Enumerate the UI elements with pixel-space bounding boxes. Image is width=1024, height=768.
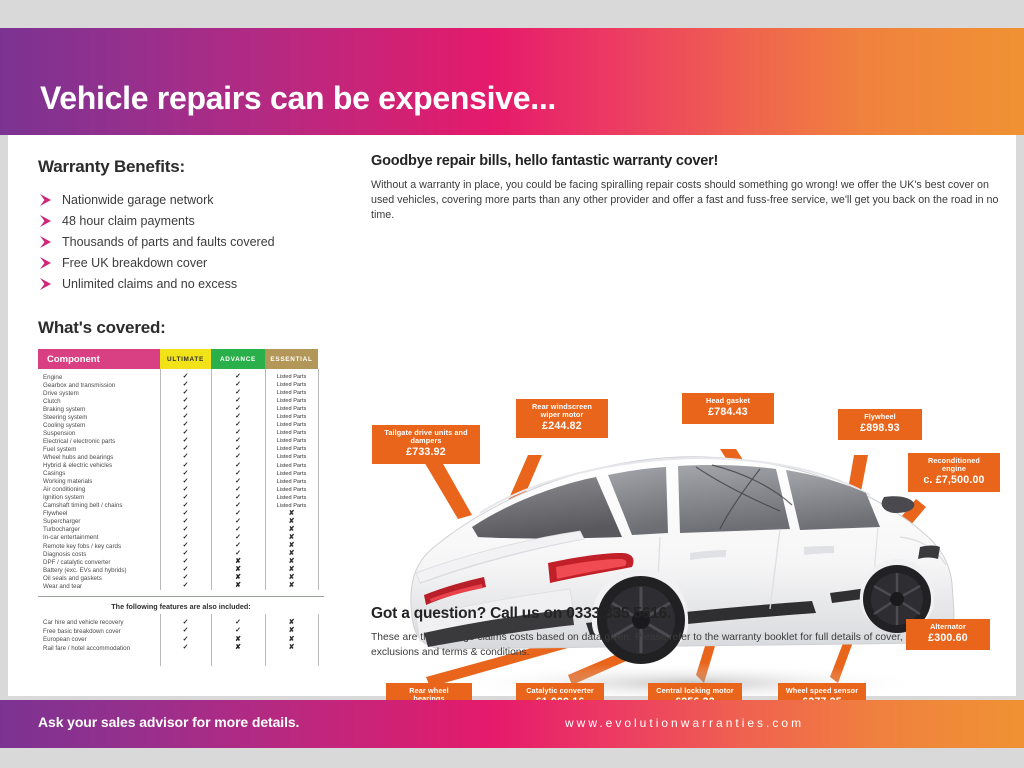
left-column: Warranty Benefits: Nationwide garage net… (38, 157, 334, 653)
list-item: Unlimited claims and no excess (38, 273, 334, 294)
table-row: Engine✓✓Listed Parts (38, 373, 324, 381)
cell-essential: Listed Parts (265, 445, 318, 453)
cell-advance: ✓ (211, 550, 265, 558)
cell-component: Gearbox and transmission (38, 382, 160, 389)
column-header-ultimate: ULTIMATE (160, 349, 211, 369)
callout-tailgate: Tailgate drive units and dampers £733.92 (372, 425, 480, 464)
cell-advance: ✓ (211, 381, 265, 389)
chevron-right-icon (38, 256, 56, 270)
cell-essential: Listed Parts (265, 429, 318, 437)
cell-advance: ✓ (211, 510, 265, 518)
table-row: Rail fare / hotel accommodation✓✘✘ (38, 644, 324, 653)
cell-advance: ✓ (211, 494, 265, 502)
cell-essential: ✘ (265, 619, 318, 627)
table-row: Diagnosis costs✓✓✘ (38, 550, 324, 558)
extras-heading: The following features are also included… (38, 596, 324, 611)
cell-component: Suspension (38, 430, 160, 437)
table-row: Battery (exc. EVs and hybrids)✓✘✘ (38, 566, 324, 574)
cell-component: Hybrid & electric vehicles (38, 462, 160, 469)
cell-component: Rail fare / hotel accommodation (38, 645, 160, 652)
cell-advance: ✓ (211, 413, 265, 421)
cell-component: Supercharger (38, 518, 160, 525)
table-row: DPF / catalytic converter✓✘✘ (38, 558, 324, 566)
benefits-heading: Warranty Benefits: (38, 157, 334, 177)
cell-ultimate: ✓ (160, 486, 211, 494)
cell-advance: ✘ (211, 566, 265, 574)
cell-ultimate: ✓ (160, 421, 211, 429)
cell-essential: Listed Parts (265, 470, 318, 478)
table-body: Engine✓✓Listed PartsGearbox and transmis… (38, 369, 324, 590)
cell-advance: ✓ (211, 534, 265, 542)
cell-ultimate: ✓ (160, 381, 211, 389)
benefits-list: Nationwide garage network 48 hour claim … (38, 189, 334, 294)
list-item: Thousands of parts and faults covered (38, 231, 334, 252)
cell-advance: ✓ (211, 437, 265, 445)
table-row: Air conditioning✓✓Listed Parts (38, 486, 324, 494)
benefit-label: Nationwide garage network (62, 193, 213, 207)
header-banner: Vehicle repairs can be expensive... (0, 28, 1024, 135)
right-heading: Goodbye repair bills, hello fantastic wa… (371, 153, 1001, 169)
cell-advance: ✘ (211, 644, 265, 652)
cell-essential: ✘ (265, 644, 318, 652)
cell-ultimate: ✓ (160, 566, 211, 574)
table-row: Braking system✓✓Listed Parts (38, 405, 324, 413)
cell-advance: ✓ (211, 429, 265, 437)
table-row: Flywheel✓✓✘ (38, 510, 324, 518)
cell-essential: ✘ (265, 510, 318, 518)
cell-essential: Listed Parts (265, 478, 318, 486)
benefit-label: Thousands of parts and faults covered (62, 235, 275, 249)
car-diagram: Tailgate drive units and dampers £733.92… (360, 387, 1020, 737)
cell-ultimate: ✓ (160, 462, 211, 470)
cell-advance: ✓ (211, 627, 265, 635)
cell-ultimate: ✓ (160, 494, 211, 502)
cell-ultimate: ✓ (160, 636, 211, 644)
table-row: Casings✓✓Listed Parts (38, 470, 324, 478)
cell-advance: ✓ (211, 397, 265, 405)
column-header-essential: ESSENTIAL (265, 349, 318, 369)
cell-component: Camshaft timing belt / chains (38, 502, 160, 509)
table-row: Steering system✓✓Listed Parts (38, 413, 324, 421)
cell-essential: Listed Parts (265, 437, 318, 445)
cell-essential: Listed Parts (265, 453, 318, 461)
benefit-label: Free UK breakdown cover (62, 256, 207, 270)
table-row: Clutch✓✓Listed Parts (38, 397, 324, 405)
cell-component: Oil seals and gaskets (38, 575, 160, 582)
cell-ultimate: ✓ (160, 445, 211, 453)
cell-advance: ✓ (211, 453, 265, 461)
table-row: Oil seals and gaskets✓✘✘ (38, 574, 324, 582)
cell-ultimate: ✓ (160, 397, 211, 405)
cell-ultimate: ✓ (160, 429, 211, 437)
cell-essential: ✘ (265, 518, 318, 526)
callout-rear-wiper: Rear windscreen wiper motor £244.82 (516, 399, 608, 438)
cell-advance: ✓ (211, 526, 265, 534)
extras-table-body: Car hire and vehicle recovery✓✓✘Free bas… (38, 614, 324, 652)
cell-essential: ✘ (265, 526, 318, 534)
cell-ultimate: ✓ (160, 550, 211, 558)
table-row: Turbocharger✓✓✘ (38, 526, 324, 534)
cell-component: DPF / catalytic converter (38, 559, 160, 566)
column-header-component: Component (38, 349, 160, 369)
chevron-right-icon (38, 277, 56, 291)
table-row: Cooling system✓✓Listed Parts (38, 421, 324, 429)
cell-component: Turbocharger (38, 526, 160, 533)
cell-component: Free basic breakdown cover (38, 628, 160, 635)
cell-component: Drive system (38, 390, 160, 397)
table-row: Gearbox and transmission✓✓Listed Parts (38, 381, 324, 389)
cell-ultimate: ✓ (160, 534, 211, 542)
cell-ultimate: ✓ (160, 413, 211, 421)
table-row: Working materials✓✓Listed Parts (38, 478, 324, 486)
cell-component: Car hire and vehicle recovery (38, 619, 160, 626)
cta-phone-title: Got a question? Call us on 0333 335 5616… (371, 605, 931, 623)
cell-essential: Listed Parts (265, 486, 318, 494)
cell-essential: ✘ (265, 582, 318, 590)
table-row: Remote key fobs / key cards✓✓✘ (38, 542, 324, 550)
cell-component: Casings (38, 470, 160, 477)
cell-essential: ✘ (265, 627, 318, 635)
table-row: Fuel system✓✓Listed Parts (38, 445, 324, 453)
extras-table: Car hire and vehicle recovery✓✓✘Free bas… (38, 614, 324, 652)
table-row: Suspension✓✓Listed Parts (38, 429, 324, 437)
cell-essential: ✘ (265, 542, 318, 550)
cell-component: Electrical / electronic parts (38, 438, 160, 445)
cell-advance: ✓ (211, 619, 265, 627)
cell-essential: Listed Parts (265, 494, 318, 502)
cell-component: Engine (38, 374, 160, 381)
list-item: Nationwide garage network (38, 189, 334, 210)
cell-advance: ✓ (211, 478, 265, 486)
list-item: Free UK breakdown cover (38, 252, 334, 273)
cell-advance: ✘ (211, 558, 265, 566)
table-row: Car hire and vehicle recovery✓✓✘ (38, 618, 324, 627)
cell-ultimate: ✓ (160, 526, 211, 534)
table-row: Supercharger✓✓✘ (38, 518, 324, 526)
callout-reconditioned-engine: Reconditioned engine c. £7,500.00 (908, 453, 1000, 492)
benefit-label: 48 hour claim payments (62, 214, 195, 228)
cell-advance: ✓ (211, 445, 265, 453)
cell-advance: ✓ (211, 542, 265, 550)
table-row: In-car entertainment✓✓✘ (38, 534, 324, 542)
cell-component: Wear and tear (38, 583, 160, 590)
cell-component: Flywheel (38, 510, 160, 517)
cell-ultimate: ✓ (160, 478, 211, 486)
content-panel: Warranty Benefits: Nationwide garage net… (8, 135, 1016, 696)
right-column: Goodbye repair bills, hello fantastic wa… (371, 153, 1001, 224)
cell-essential: ✘ (265, 558, 318, 566)
footer-tagline: Ask your sales advisor for more details. (38, 714, 299, 730)
cell-advance: ✓ (211, 462, 265, 470)
cell-essential: ✘ (265, 574, 318, 582)
cell-advance: ✘ (211, 574, 265, 582)
cell-advance: ✓ (211, 405, 265, 413)
cell-ultimate: ✓ (160, 453, 211, 461)
cell-component: Clutch (38, 398, 160, 405)
cell-component: Remote key fobs / key cards (38, 543, 160, 550)
cell-advance: ✓ (211, 373, 265, 381)
benefit-label: Unlimited claims and no excess (62, 277, 237, 291)
cell-ultimate: ✓ (160, 502, 211, 510)
poster-page: Vehicle repairs can be expensive... Warr… (0, 0, 1024, 768)
cell-essential: ✘ (265, 566, 318, 574)
cell-advance: ✓ (211, 389, 265, 397)
cell-component: Wheel hubs and bearings (38, 454, 160, 461)
table-row: Free basic breakdown cover✓✓✘ (38, 627, 324, 636)
table-header-row: Component ULTIMATE ADVANCE ESSENTIAL (38, 349, 324, 369)
cell-ultimate: ✓ (160, 437, 211, 445)
callout-head-gasket: Head gasket £784.43 (682, 393, 774, 424)
covered-heading: What's covered: (38, 318, 334, 338)
list-item: 48 hour claim payments (38, 210, 334, 231)
cell-ultimate: ✓ (160, 619, 211, 627)
cell-advance: ✘ (211, 582, 265, 590)
cell-essential: ✘ (265, 636, 318, 644)
cell-advance: ✘ (211, 636, 265, 644)
table-row: Ignition system✓✓Listed Parts (38, 494, 324, 502)
cell-ultimate: ✓ (160, 558, 211, 566)
cell-essential: ✘ (265, 534, 318, 542)
cell-ultimate: ✓ (160, 470, 211, 478)
callout-flywheel: Flywheel £898.93 (838, 409, 922, 440)
coverage-table: Component ULTIMATE ADVANCE ESSENTIAL Eng… (38, 349, 324, 590)
cell-component: Battery (exc. EVs and hybrids) (38, 567, 160, 574)
cell-ultimate: ✓ (160, 510, 211, 518)
cell-ultimate: ✓ (160, 627, 211, 635)
footer-banner: Ask your sales advisor for more details.… (0, 700, 1024, 748)
cell-essential: Listed Parts (265, 373, 318, 381)
table-row: Camshaft timing belt / chains✓✓Listed Pa… (38, 502, 324, 510)
cell-essential: Listed Parts (265, 397, 318, 405)
cell-essential: Listed Parts (265, 381, 318, 389)
table-row: Hybrid & electric vehicles✓✓Listed Parts (38, 462, 324, 470)
table-row: European cover✓✘✘ (38, 635, 324, 644)
table-row: Electrical / electronic parts✓✓Listed Pa… (38, 437, 324, 445)
cell-advance: ✓ (211, 421, 265, 429)
cell-ultimate: ✓ (160, 405, 211, 413)
cell-essential: Listed Parts (265, 462, 318, 470)
cta-block: Got a question? Call us on 0333 335 5616… (371, 605, 931, 661)
cell-essential: Listed Parts (265, 421, 318, 429)
cell-essential: Listed Parts (265, 502, 318, 510)
cell-component: Working materials (38, 478, 160, 485)
cell-essential: Listed Parts (265, 405, 318, 413)
cell-component: In-car entertainment (38, 534, 160, 541)
cell-advance: ✓ (211, 486, 265, 494)
column-header-advance: ADVANCE (211, 349, 265, 369)
cell-advance: ✓ (211, 470, 265, 478)
table-row: Drive system✓✓Listed Parts (38, 389, 324, 397)
cell-component: Ignition system (38, 494, 160, 501)
chevron-right-icon (38, 235, 56, 249)
page-title: Vehicle repairs can be expensive... (40, 80, 556, 117)
cell-advance: ✓ (211, 518, 265, 526)
cell-component: Air conditioning (38, 486, 160, 493)
chevron-right-icon (38, 214, 56, 228)
table-row: Wheel hubs and bearings✓✓Listed Parts (38, 453, 324, 461)
right-paragraph: Without a warranty in place, you could b… (371, 178, 1001, 224)
cta-disclaimer: These are the average claims costs based… (371, 631, 931, 661)
cell-component: Braking system (38, 406, 160, 413)
table-row: Wear and tear✓✘✘ (38, 582, 324, 590)
cell-advance: ✓ (211, 502, 265, 510)
cell-ultimate: ✓ (160, 542, 211, 550)
cell-component: Diagnosis costs (38, 551, 160, 558)
chevron-right-icon (38, 193, 56, 207)
cell-ultimate: ✓ (160, 644, 211, 652)
cell-component: Fuel system (38, 446, 160, 453)
cell-essential: Listed Parts (265, 389, 318, 397)
cell-ultimate: ✓ (160, 373, 211, 381)
cell-essential: Listed Parts (265, 413, 318, 421)
cell-ultimate: ✓ (160, 518, 211, 526)
cell-essential: ✘ (265, 550, 318, 558)
footer-website[interactable]: www.evolutionwarranties.com (565, 716, 804, 730)
cell-component: European cover (38, 636, 160, 643)
cell-ultimate: ✓ (160, 389, 211, 397)
cell-ultimate: ✓ (160, 582, 211, 590)
cell-ultimate: ✓ (160, 574, 211, 582)
cell-component: Steering system (38, 414, 160, 421)
cell-component: Cooling system (38, 422, 160, 429)
